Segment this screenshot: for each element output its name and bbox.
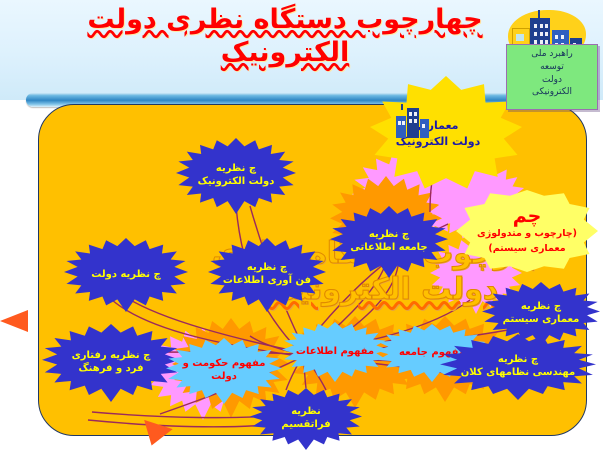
node-label-line1: چ نظریه <box>488 301 594 314</box>
national-strategy-note[interactable]: راهبرد ملی توسعه دولت الکترونیکی <box>506 44 598 110</box>
node-label-line2: دولت <box>172 371 276 384</box>
node-label-line1: چ نظریه رفتاری <box>48 350 174 363</box>
node-label-line1: نظریه <box>256 406 356 419</box>
node-label-line1: مفهوم حکومت و <box>172 358 276 371</box>
node-label-line1: چ نظریه <box>336 229 442 242</box>
node-label-line1: چ نظریه <box>182 163 290 176</box>
node-label-line2: معماری سیستم <box>488 314 594 327</box>
node-label-line2: مهندسی نظامهای کلان <box>446 367 590 380</box>
node-label-line1: چ نظریه <box>214 262 320 275</box>
node-label-line1: مفهوم اطلاعات <box>288 346 382 359</box>
node-label-line2: فرد و فرهنگ <box>48 363 174 376</box>
cham-acronym: چم <box>513 207 542 226</box>
node-label-line2: جامعه اطلاعاتی <box>336 242 442 255</box>
page-title-line1: چهارچوب دستگاه نظری دولت <box>87 4 482 35</box>
left-pointer-arrow <box>0 310 28 332</box>
green-note-line-1: راهبرد ملی <box>507 48 597 61</box>
node-label-line2: دولت الکترونیک <box>182 176 290 189</box>
page-title-line2: الکترونیک <box>85 37 485 70</box>
cham-expansion-line2: معماری سیستم) <box>488 243 565 256</box>
page-title: چهارچوب دستگاه نظری دولت الکترونیک <box>85 4 485 70</box>
green-note-line-2: توسعه <box>507 61 597 74</box>
slide-canvas: چارچوب دستگاه نظری دولت الکترونیک چ نظری… <box>0 0 603 451</box>
green-note-line-3: دولت <box>507 74 597 87</box>
node-label-line2: فراتقسیم <box>256 419 356 432</box>
node-label-line1: چ نظریه دولت <box>70 269 182 282</box>
node-label-line2: فن آوری اطلاعات <box>214 275 320 288</box>
node-label-line1: چ نظریه <box>446 354 590 367</box>
green-note-line-4: الکترونیکی <box>507 86 597 99</box>
cham-expansion-line1: (چارچوب و متدولوژی <box>477 228 577 241</box>
